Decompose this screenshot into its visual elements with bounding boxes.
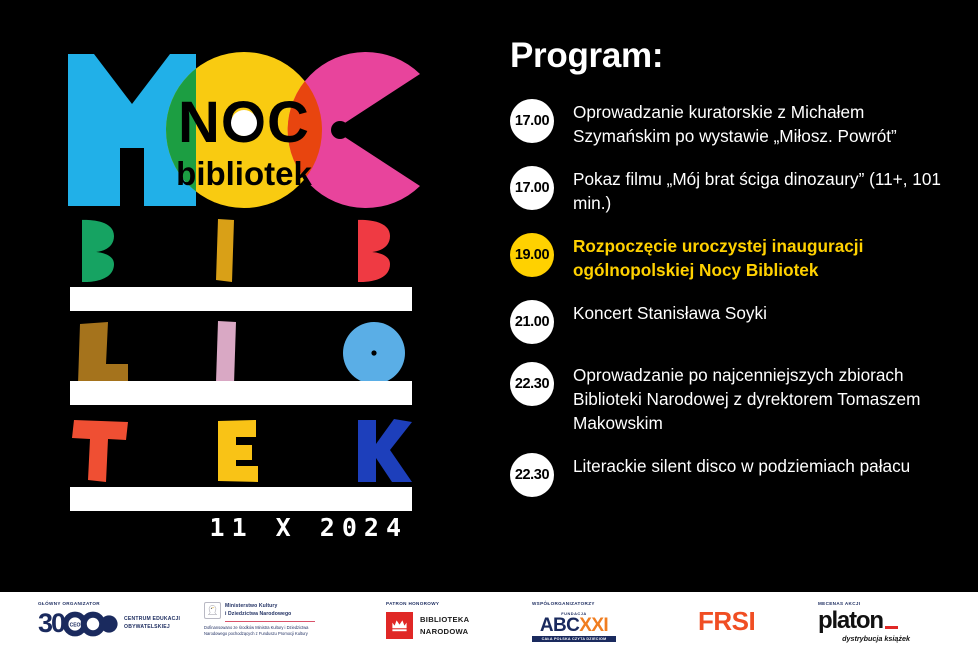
platon-wordmark: platon (818, 609, 883, 633)
footer-block-ministry: Ministerstwo Kultury i Dziedzictwa Narod… (196, 592, 366, 650)
platon-logo: platon dystrybucja książek (818, 606, 978, 643)
program-time-badge: 17.00 (510, 166, 554, 210)
program-item-description: Koncert Stanisława Soyki (573, 299, 767, 326)
footer-block-frsi: FRSI (676, 592, 806, 650)
program-item: 22.30Literackie silent disco w podziemia… (510, 452, 962, 497)
program-item: 17.00Oprowadzanie kuratorskie z Michałem… (510, 98, 962, 148)
program-item: 17.00Pokaz filmu „Mój brat ściga dinozau… (510, 165, 962, 215)
program-time-badge: 17.00 (510, 99, 554, 143)
program-item: 22.30Oprowadzanie po najcenniejszych zbi… (510, 361, 962, 435)
footer-block-organizer: GŁÓWNY ORGANIZATOR 30 CEO (0, 592, 196, 650)
bn-name-line1: BIBLIOTEKA (420, 615, 469, 624)
ceo-roundel-icon: CEO (62, 611, 118, 637)
letter-glyph-b2 (358, 220, 390, 282)
ceo-name-line1: CENTRUM EDUKACJI (124, 616, 180, 622)
ministry-name: Ministerstwo Kultury i Dziedzictwa Narod… (225, 603, 291, 618)
event-date: 11 X 2024 (70, 513, 412, 542)
program-item-description: Oprowadzanie kuratorskie z Michałem Szym… (573, 98, 962, 148)
sponsor-footer: GŁÓWNY ORGANIZATOR 30 CEO (0, 592, 978, 650)
letter-glyph-i2 (216, 321, 236, 384)
logo-noc-o-counter (231, 110, 257, 136)
ministry-name-line2: i Dziedzictwa Narodowego (225, 611, 291, 617)
letter-glyph-i1 (216, 219, 234, 282)
bn-name-line2: NARODOWA (420, 627, 468, 636)
page-title: Program: (510, 36, 962, 76)
program-item-description: Rozpoczęcie uroczystej inauguracji ogóln… (573, 232, 962, 282)
ceo-name: CENTRUM EDUKACJI OBYWATELSKIEJ (124, 616, 180, 631)
logo-inner-bibliotek: bibliotek (176, 155, 312, 192)
program-list: 17.00Oprowadzanie kuratorskie z Michałem… (510, 98, 962, 497)
separator-bar-1 (70, 287, 412, 311)
moc-wordmark: NOC bibliotek (62, 40, 432, 210)
ministry-funding-line2: Narodowego pochodzących z Funduszu Promo… (204, 631, 308, 636)
program-time-badge: 22.30 (510, 453, 554, 497)
letter-row-tek (70, 418, 412, 484)
bn-name: BIBLIOTEKA NARODOWA (420, 614, 469, 638)
program-time-badge: 19.00 (510, 233, 554, 277)
ceo-name-line2: OBYWATELSKIEJ (124, 624, 170, 630)
ceo-logo: 30 CEO CENTRUM EDUKACJI (38, 610, 180, 637)
abcxxi-abc: ABC (540, 616, 579, 635)
svg-text:CEO: CEO (70, 622, 81, 628)
logo-area: NOC bibliotek (0, 0, 490, 592)
crown-icon (386, 612, 413, 639)
letter-glyph-t (72, 420, 128, 482)
ministry-divider (225, 621, 315, 622)
ministry-funding-note: Dofinansowano ze środków Ministra Kultur… (204, 625, 362, 638)
separator-bar-2 (70, 381, 412, 405)
footer-label-patron: PATRON HONOROWY (386, 592, 526, 606)
letter-glyph-b1 (82, 220, 114, 282)
ceo-anniversary-number: 30 (38, 610, 64, 637)
program-time-badge: 21.00 (510, 300, 554, 344)
abcxxi-tagline: CAŁA POLSKA CZYTA DZIECIOM (532, 636, 616, 642)
footer-label-mecenas: MECENAS AKCJI (818, 592, 978, 606)
program-item-description: Pokaz filmu „Mój brat ściga dinozaury” (… (573, 165, 962, 215)
footer-label-coorganizers: WSPÓŁORGANIZATORZY (532, 592, 676, 606)
ministry-funding-line1: Dofinansowano ze środków Ministra Kultur… (204, 625, 308, 630)
frsi-logo: FRSI (698, 592, 806, 637)
letter-glyph-e (218, 420, 258, 482)
program-item: 19.00Rozpoczęcie uroczystej inauguracji … (510, 232, 962, 282)
footer-block-patron: PATRON HONOROWY BIBLIOTEKA NARODOWA (366, 592, 526, 650)
footer-block-coorganizers: WSPÓŁORGANIZATORZY FUNDACJA ABC XXI CAŁA… (526, 592, 676, 650)
platon-underscore-mark (885, 626, 898, 630)
program-time-badge: 22.30 (510, 362, 554, 406)
program-item-description: Literackie silent disco w podziemiach pa… (573, 452, 910, 479)
pacman-eye-dot (331, 121, 349, 139)
poster-canvas: NOC bibliotek (0, 0, 978, 650)
letter-glyph-o (343, 322, 405, 384)
abcxxi-logo: FUNDACJA ABC XXI CAŁA POLSKA CZYTA DZIEC… (532, 606, 676, 642)
polish-eagle-emblem-icon (204, 602, 221, 619)
ministry-name-line1: Ministerstwo Kultury (225, 603, 277, 609)
footer-block-mecenas: MECENAS AKCJI platon dystrybucja książek (806, 592, 978, 650)
separator-bar-3 (70, 487, 412, 511)
abcxxi-xxi: XXI (579, 616, 608, 635)
program-section: Program: 17.00Oprowadzanie kuratorskie z… (510, 36, 962, 514)
program-item: 21.00Koncert Stanisława Soyki (510, 299, 962, 344)
platon-subtitle: dystrybucja książek (818, 634, 910, 643)
program-item-description: Oprowadzanie po najcenniejszych zbiorach… (573, 361, 962, 435)
letter-row-bib (70, 218, 412, 284)
letter-row-lio (70, 320, 412, 386)
letter-glyph-k (358, 419, 412, 482)
letter-glyph-l (78, 322, 128, 384)
footer-label-organizer: GŁÓWNY ORGANIZATOR (38, 592, 196, 606)
